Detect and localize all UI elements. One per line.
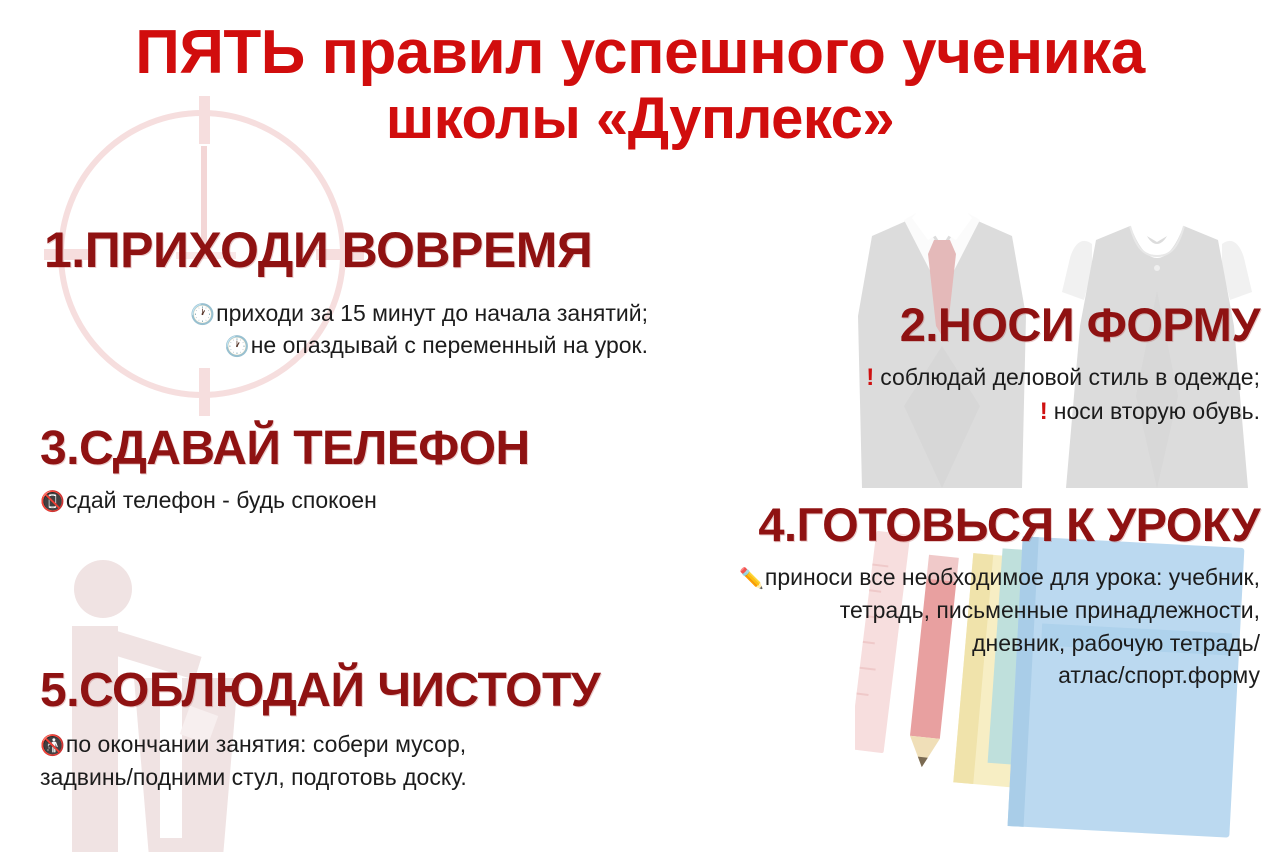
rule-1-body: 🕐приходи за 15 минут до начала занятий; … bbox=[44, 297, 664, 362]
rule-1-line-1: 🕐приходи за 15 минут до начала занятий; bbox=[44, 297, 648, 330]
poster-canvas: ПЯТЬ правил успешного ученика школы «Дуп… bbox=[0, 0, 1280, 853]
rule-1-heading: 1.ПРИХОДИ ВОВРЕМЯ bbox=[44, 224, 664, 277]
rule-1-line-2-text: не опаздывай с переменный на урок. bbox=[251, 332, 648, 358]
no-littering-icon: 🚯 bbox=[40, 735, 65, 757]
clock-icon: 🕐 bbox=[190, 304, 215, 326]
rule-2-line-1-text: соблюдай деловой стиль в одежде; bbox=[880, 364, 1260, 390]
rule-3-heading: 3.СДАВАЙ ТЕЛЕФОН bbox=[40, 424, 690, 474]
title-line-2: школы «Дуплекс» bbox=[0, 87, 1280, 152]
rule-5-body: 🚯по окончании занятия: собери мусор, зад… bbox=[40, 728, 740, 793]
title-line-1: ПЯТЬ правил успешного ученика bbox=[0, 18, 1280, 87]
rule-3-line-1-text: сдай телефон - будь спокоен bbox=[66, 487, 377, 513]
rule-4-line-3: дневник, рабочую тетрадь/ bbox=[548, 627, 1260, 660]
rule-4-line-1-text: приноси все необходимое для урока: учебн… bbox=[765, 564, 1260, 590]
rule-1-line-2: 🕐не опаздывай с переменный на урок. bbox=[44, 329, 648, 362]
rule-5-line-2: задвинь/подними стул, подготовь доску. bbox=[40, 761, 740, 794]
clock-icon: 🕐 bbox=[225, 336, 250, 358]
exclamation-icon: ! bbox=[1040, 398, 1048, 425]
rule-item-5: 5.СОБЛЮДАЙ ЧИСТОТУ 🚯по окончании занятия… bbox=[40, 666, 740, 794]
rule-1-line-1-text: приходи за 15 минут до начала занятий; bbox=[216, 300, 648, 326]
rule-2-line-1: !соблюдай деловой стиль в одежде; bbox=[700, 361, 1260, 395]
rule-2-body: !соблюдай деловой стиль в одежде; !носи … bbox=[700, 361, 1260, 429]
rule-item-1: 1.ПРИХОДИ ВОВРЕМЯ 🕐приходи за 15 минут д… bbox=[44, 224, 664, 362]
rule-5-line-1-text: по окончании занятия: собери мусор, bbox=[66, 731, 466, 757]
rule-item-2: 2.НОСИ ФОРМУ !соблюдай деловой стиль в о… bbox=[700, 300, 1260, 430]
rule-4-line-1: ✏️приноси все необходимое для урока: уче… bbox=[548, 561, 1260, 594]
rule-item-4: 4.ГОТОВЬСЯ К УРОКУ ✏️приноси все необход… bbox=[548, 500, 1260, 692]
rule-2-line-2: !носи вторую обувь. bbox=[700, 395, 1260, 429]
pencil-icon: ✏️ bbox=[739, 568, 764, 590]
rule-5-heading: 5.СОБЛЮДАЙ ЧИСТОТУ bbox=[40, 666, 740, 716]
exclamation-icon: ! bbox=[866, 364, 874, 391]
rule-4-heading: 4.ГОТОВЬСЯ К УРОКУ bbox=[548, 500, 1260, 549]
rule-2-heading: 2.НОСИ ФОРМУ bbox=[700, 300, 1260, 349]
rule-4-line-2: тетрадь, письменные принадлежности, bbox=[548, 594, 1260, 627]
rule-2-line-2-text: носи вторую обувь. bbox=[1054, 398, 1260, 424]
poster-title: ПЯТЬ правил успешного ученика школы «Дуп… bbox=[0, 18, 1280, 152]
no-mobile-phone-icon: 📵 bbox=[40, 491, 65, 513]
rule-5-line-1: 🚯по окончании занятия: собери мусор, bbox=[40, 728, 740, 761]
